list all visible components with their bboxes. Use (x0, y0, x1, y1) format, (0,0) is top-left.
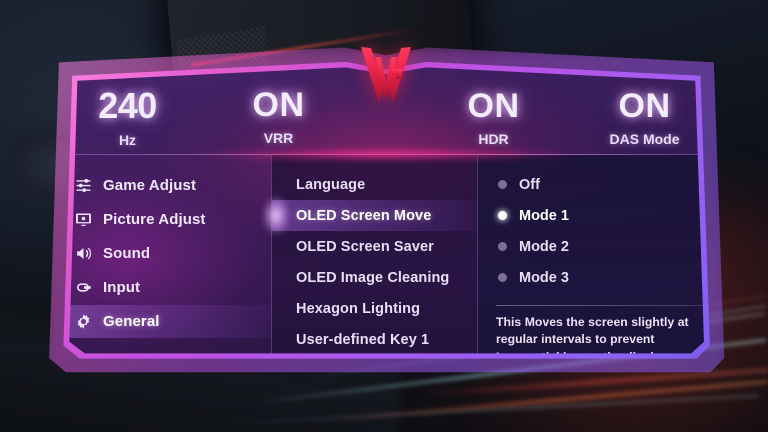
submenu-item-hexagon-lighting[interactable]: Hexagon Lighting (272, 293, 477, 324)
submenu-item-label: OLED Image Cleaning (296, 270, 449, 286)
option-off[interactable]: Off (478, 169, 720, 200)
cable-icon (74, 279, 92, 297)
osd-body: Game Adjust Picture Adjust Sound (52, 155, 720, 383)
status-label: DAS Mode (610, 131, 680, 147)
status-value: 240 (98, 88, 157, 124)
status-value: ON (468, 89, 520, 123)
submenu-item-label: OLED Screen Move (296, 208, 431, 224)
sidebar-item-picture-adjust[interactable]: Picture Adjust (52, 203, 271, 236)
description-separator (496, 305, 702, 306)
sidebar-item-input[interactable]: Input (52, 271, 271, 304)
option-label: Mode 1 (519, 208, 569, 224)
sidebar-item-label: Game Adjust (103, 177, 196, 194)
radio-button-selected[interactable] (498, 211, 507, 220)
description-line: This Moves the screen slightly at (496, 314, 702, 331)
submenu-item-oled-screen-saver[interactable]: OLED Screen Saver (272, 231, 477, 262)
sidebar-item-general[interactable]: General (52, 305, 271, 338)
option-label: Mode 2 (519, 239, 569, 255)
status-value: ON (253, 88, 305, 122)
radio-button[interactable] (498, 242, 507, 251)
submenu-item-label: OLED Screen Saver (296, 239, 434, 255)
sidebar-item-label: Picture Adjust (103, 211, 206, 228)
status-value: ON (619, 89, 671, 123)
submenu-item-language[interactable]: Language (272, 169, 477, 200)
sidebar-item-label: Input (103, 279, 140, 296)
osd-sidebar: Game Adjust Picture Adjust Sound (52, 155, 271, 383)
radio-button[interactable] (498, 180, 507, 189)
monitor-icon (74, 211, 92, 229)
submenu-item-user-defined-key-1[interactable]: User-defined Key 1 (272, 324, 477, 355)
header-divider-glow (199, 148, 573, 161)
osd-submenu: Language OLED Screen Move OLED Screen Sa… (271, 155, 477, 383)
description-line: regular intervals to prevent (496, 331, 702, 348)
submenu-item-label: Language (296, 177, 365, 193)
submenu-item-oled-screen-move[interactable]: OLED Screen Move (272, 200, 477, 231)
lg-ultragear-logo (358, 45, 414, 107)
status-label: Hz (119, 132, 136, 148)
option-label: Mode 3 (519, 270, 569, 286)
status-label: HDR (478, 131, 508, 147)
screenshot-root: 240 Hz ON VRR ON HDR ON DAS Mode (0, 0, 768, 432)
option-mode-3[interactable]: Mode 3 (478, 262, 720, 293)
radio-button[interactable] (498, 273, 507, 282)
osd-options-panel: Off Mode 1 Mode 2 Mode 3 (477, 155, 720, 383)
sidebar-item-sound[interactable]: Sound (52, 237, 271, 270)
option-label: Off (519, 177, 540, 193)
option-mode-2[interactable]: Mode 2 (478, 231, 720, 262)
sidebar-item-label: Sound (103, 245, 150, 262)
sidebar-item-label: General (103, 313, 160, 330)
option-mode-1[interactable]: Mode 1 (478, 200, 720, 231)
gear-icon (74, 313, 92, 331)
sliders-icon (74, 177, 92, 195)
sidebar-item-game-adjust[interactable]: Game Adjust (52, 169, 271, 202)
submenu-item-label: User-defined Key 1 (296, 332, 429, 348)
speaker-icon (74, 245, 92, 263)
status-label: VRR (264, 130, 294, 146)
submenu-item-oled-image-cleaning[interactable]: OLED Image Cleaning (272, 262, 477, 293)
submenu-item-label: Hexagon Lighting (296, 301, 420, 317)
